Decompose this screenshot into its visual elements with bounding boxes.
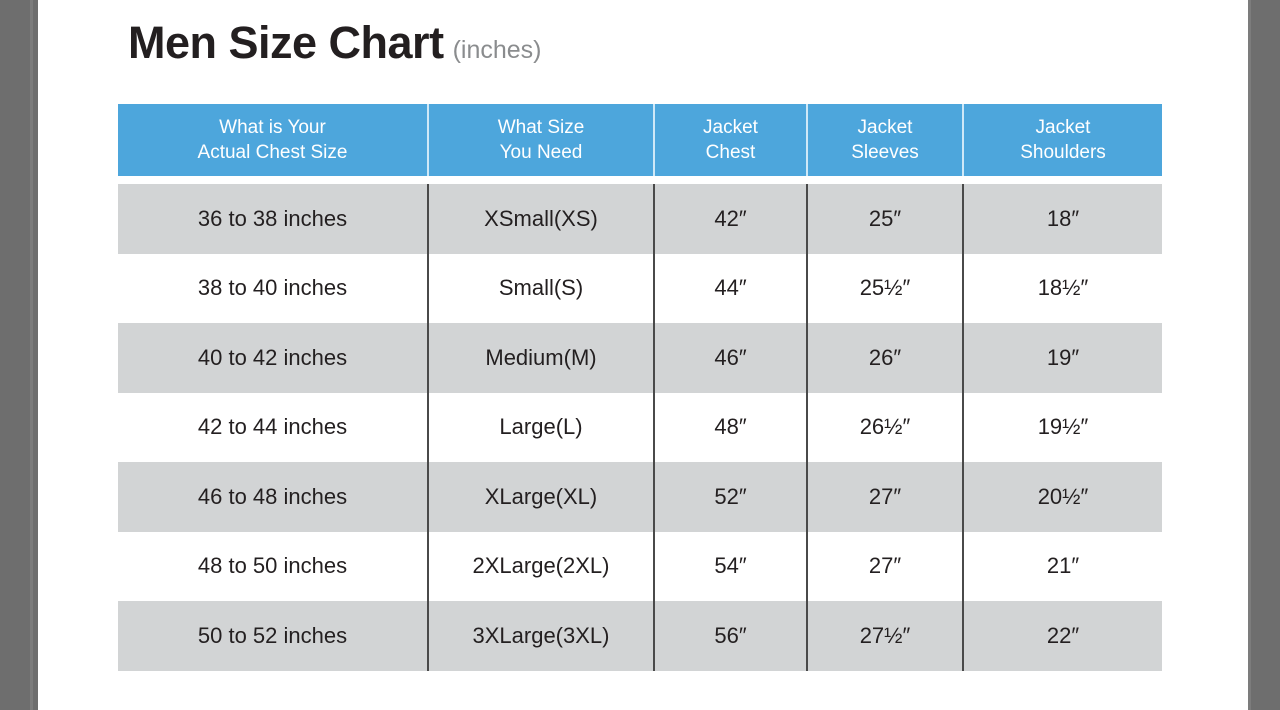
table-row: 42 to 44 inchesLarge(L)48″26½″19½″ [118,393,1162,463]
cell-chest-range: 48 to 50 inches [118,532,429,602]
column-header-3: JacketChest [655,104,808,176]
cell-jacket-shoulders: 22″ [964,601,1162,671]
column-header-line1: What is Your [219,115,326,140]
cell-chest-range: 38 to 40 inches [118,254,429,324]
table-row: 36 to 38 inchesXSmall(XS)42″25″18″ [118,184,1162,254]
cell-jacket-shoulders: 20½″ [964,462,1162,532]
chart-stage: Men Size Chart (inches) What is YourActu… [38,0,1248,710]
cell-jacket-sleeves: 25½″ [808,254,964,324]
cell-jacket-shoulders: 19½″ [964,393,1162,463]
page-title-units: (inches) [453,38,542,63]
cell-jacket-chest: 54″ [655,532,808,602]
cell-jacket-sleeves: 27″ [808,462,964,532]
cell-jacket-shoulders: 18″ [964,184,1162,254]
table-row: 40 to 42 inchesMedium(M)46″26″19″ [118,323,1162,393]
column-header-5: JacketShoulders [964,104,1162,176]
page-title: Men Size Chart (inches) [128,20,541,65]
cell-jacket-chest: 52″ [655,462,808,532]
column-header-line1: Jacket [703,115,758,140]
table-row: 50 to 52 inches3XLarge(3XL)56″27½″22″ [118,601,1162,671]
letterbox-band-right [1248,0,1280,710]
column-header-line1: Jacket [1036,115,1091,140]
column-header-line2: Sleeves [851,140,919,165]
cell-chest-range: 50 to 52 inches [118,601,429,671]
size-chart-table: What is YourActual Chest SizeWhat SizeYo… [118,104,1162,671]
table-row: 48 to 50 inches2XLarge(2XL)54″27″21″ [118,532,1162,602]
page-title-main: Men Size Chart [128,20,444,65]
cell-jacket-chest: 56″ [655,601,808,671]
header-body-gap [118,176,1162,184]
cell-jacket-shoulders: 21″ [964,532,1162,602]
screenshot-canvas: Men Size Chart (inches) What is YourActu… [0,0,1280,710]
cell-size: 2XLarge(2XL) [429,532,655,602]
cell-chest-range: 46 to 48 inches [118,462,429,532]
letterbox-seam-left [30,0,33,710]
cell-size: 3XLarge(3XL) [429,601,655,671]
cell-jacket-sleeves: 25″ [808,184,964,254]
cell-chest-range: 36 to 38 inches [118,184,429,254]
cell-size: XSmall(XS) [429,184,655,254]
table-row: 46 to 48 inchesXLarge(XL)52″27″20½″ [118,462,1162,532]
cell-chest-range: 42 to 44 inches [118,393,429,463]
cell-chest-range: 40 to 42 inches [118,323,429,393]
cell-size: Medium(M) [429,323,655,393]
cell-jacket-sleeves: 27″ [808,532,964,602]
cell-jacket-chest: 48″ [655,393,808,463]
table-header-row: What is YourActual Chest SizeWhat SizeYo… [118,104,1162,176]
table-body: 36 to 38 inchesXSmall(XS)42″25″18″38 to … [118,184,1162,671]
column-header-4: JacketSleeves [808,104,964,176]
column-header-line2: Chest [706,140,756,165]
column-header-line2: You Need [500,140,583,165]
column-header-line1: Jacket [858,115,913,140]
column-header-line2: Shoulders [1020,140,1106,165]
cell-jacket-sleeves: 26″ [808,323,964,393]
cell-size: Small(S) [429,254,655,324]
column-header-2: What SizeYou Need [429,104,655,176]
cell-size: XLarge(XL) [429,462,655,532]
cell-jacket-sleeves: 26½″ [808,393,964,463]
column-header-line1: What Size [498,115,585,140]
cell-jacket-chest: 42″ [655,184,808,254]
cell-jacket-sleeves: 27½″ [808,601,964,671]
cell-jacket-chest: 44″ [655,254,808,324]
column-header-1: What is YourActual Chest Size [118,104,429,176]
cell-jacket-chest: 46″ [655,323,808,393]
table-row: 38 to 40 inchesSmall(S)44″25½″18½″ [118,254,1162,324]
cell-jacket-shoulders: 18½″ [964,254,1162,324]
letterbox-seam-right [1248,0,1251,710]
cell-jacket-shoulders: 19″ [964,323,1162,393]
cell-size: Large(L) [429,393,655,463]
column-header-line2: Actual Chest Size [198,140,348,165]
